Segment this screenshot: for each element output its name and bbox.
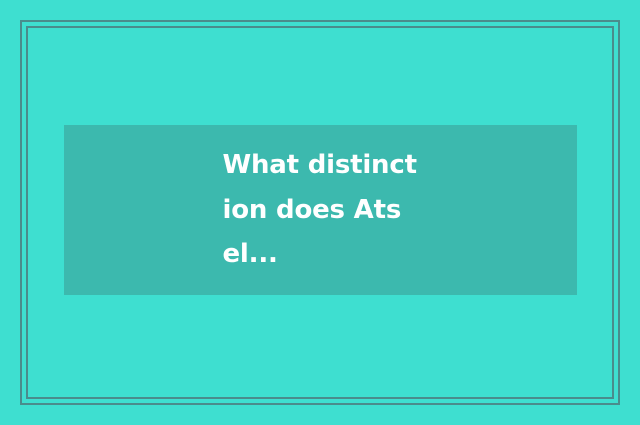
card-canvas: What distinction does Ats el... xyxy=(0,0,640,425)
question-text: What distinction does Ats el... xyxy=(223,143,419,277)
question-banner: What distinction does Ats el... xyxy=(64,125,577,295)
